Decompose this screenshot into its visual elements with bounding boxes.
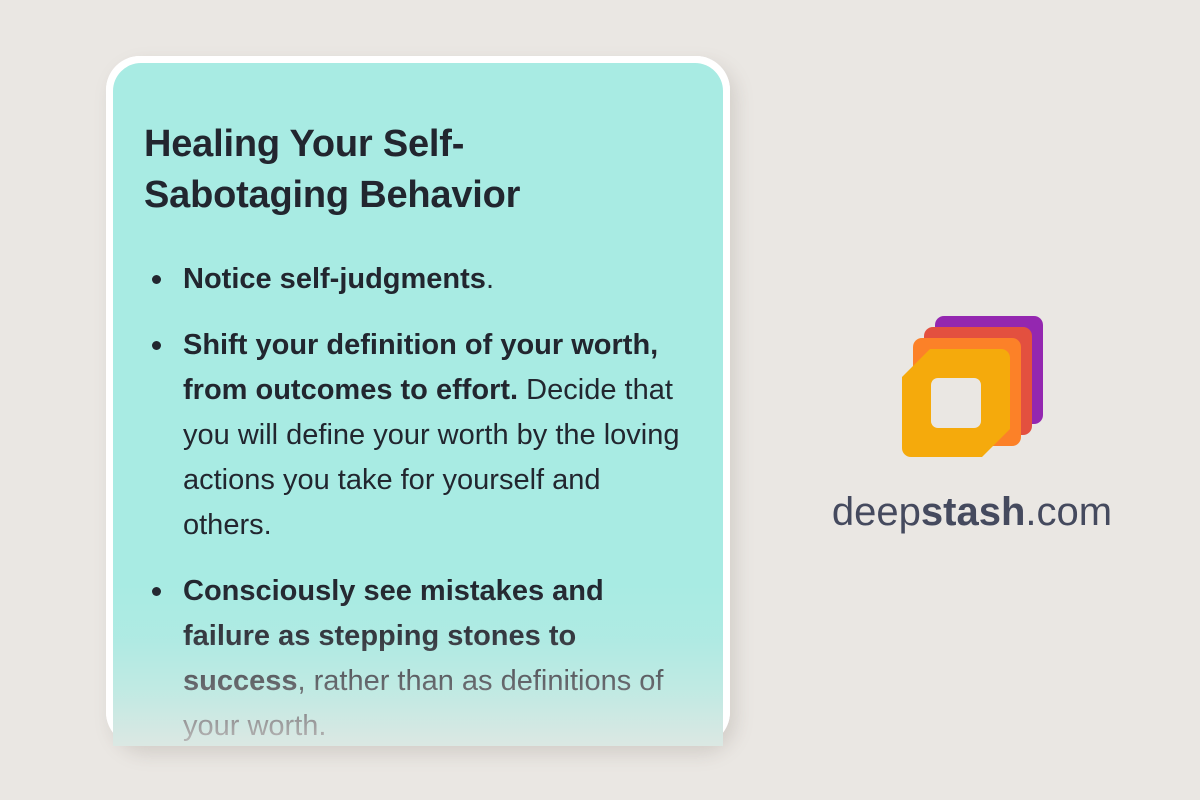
brand-wordmark: deepstash.com bbox=[812, 489, 1132, 535]
card-content: Healing Your Self-Sabotaging Behavior No… bbox=[113, 63, 723, 746]
list-item: Consciously see mistakes and failure as … bbox=[144, 569, 689, 746]
bullet-dot-icon bbox=[152, 275, 161, 284]
brand-block: deepstash.com bbox=[812, 316, 1132, 535]
quote-card: Healing Your Self-Sabotaging Behavior No… bbox=[106, 56, 730, 756]
wordmark-dotcom: .com bbox=[1025, 490, 1112, 534]
bullet-dot-icon bbox=[152, 341, 161, 350]
list-item: Notice self-judgments. bbox=[144, 257, 689, 302]
card-body: Healing Your Self-Sabotaging Behavior No… bbox=[113, 63, 723, 746]
wordmark-deep: deep bbox=[832, 490, 921, 534]
list-item-lead: Notice self-judgments bbox=[183, 263, 486, 295]
list-item: Shift your definition of your worth, fro… bbox=[144, 323, 689, 548]
tips-list: Notice self-judgments. Shift your defini… bbox=[144, 257, 689, 746]
wordmark-stash: stash bbox=[921, 490, 1026, 534]
bullet-dot-icon bbox=[152, 587, 161, 596]
page-title: Healing Your Self-Sabotaging Behavior bbox=[144, 119, 544, 221]
deepstash-logo-icon bbox=[902, 316, 1042, 461]
list-item-rest: . bbox=[486, 263, 494, 295]
logo-inner-square-icon bbox=[931, 378, 981, 428]
